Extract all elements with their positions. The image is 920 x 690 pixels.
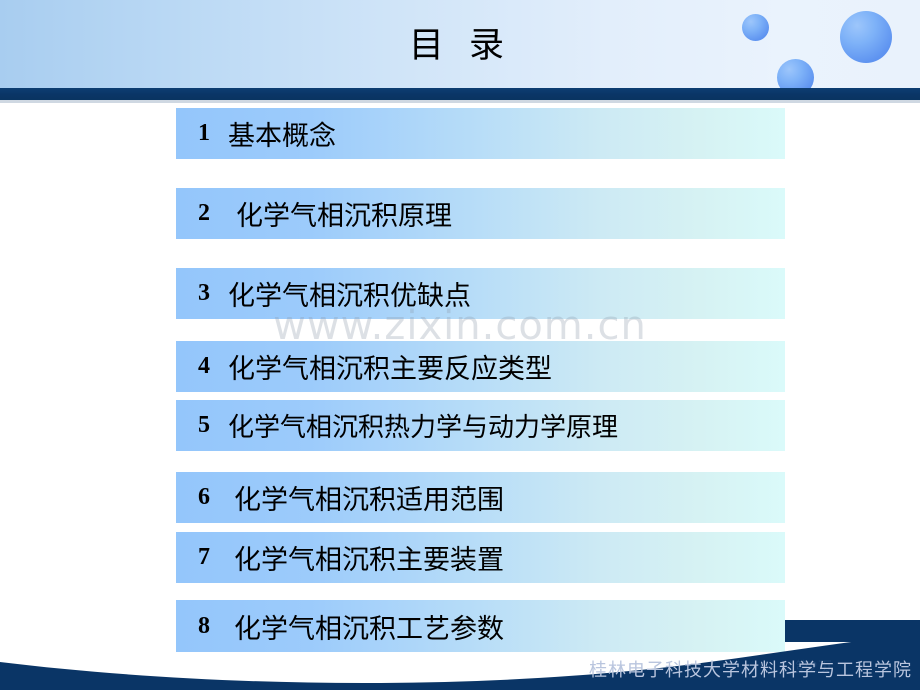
toc-item-label: 化学气相沉积优缺点 <box>224 274 471 313</box>
toc-item-6[interactable]: 6 化学气相沉积适用范围 <box>176 472 785 523</box>
toc-item-number: 7 <box>176 544 224 571</box>
toc-item-number: 6 <box>176 484 224 511</box>
slide-canvas: 目 录 1 基本概念 2 化学气相沉积原理 3 化学气相沉积优缺点 4 化学气相… <box>0 0 920 690</box>
toc-item-4[interactable]: 4 化学气相沉积主要反应类型 <box>176 341 785 392</box>
toc-item-label: 基本概念 <box>224 114 336 153</box>
toc-item-number: 3 <box>176 280 224 307</box>
table-of-contents-list: 1 基本概念 2 化学气相沉积原理 3 化学气相沉积优缺点 4 化学气相沉积主要… <box>0 0 920 690</box>
toc-item-2[interactable]: 2 化学气相沉积原理 <box>176 188 785 239</box>
toc-item-3[interactable]: 3 化学气相沉积优缺点 <box>176 268 785 319</box>
toc-item-number: 4 <box>176 353 224 380</box>
footer-institution-label: 桂林电子科技大学材料科学与工程学院 <box>589 656 912 682</box>
toc-item-label: 化学气相沉积原理 <box>224 194 452 233</box>
toc-item-label: 化学气相沉积主要反应类型 <box>224 347 552 386</box>
toc-item-label: 化学气相沉积热力学与动力学原理 <box>224 407 618 444</box>
toc-item-number: 5 <box>176 412 224 439</box>
toc-item-label: 化学气相沉积适用范围 <box>224 478 504 517</box>
toc-item-7[interactable]: 7 化学气相沉积主要装置 <box>176 532 785 583</box>
toc-item-number: 2 <box>176 200 224 227</box>
toc-item-label: 化学气相沉积主要装置 <box>224 538 504 577</box>
toc-item-number: 1 <box>176 120 224 147</box>
toc-item-1[interactable]: 1 基本概念 <box>176 108 785 159</box>
toc-item-5[interactable]: 5 化学气相沉积热力学与动力学原理 <box>176 400 785 451</box>
